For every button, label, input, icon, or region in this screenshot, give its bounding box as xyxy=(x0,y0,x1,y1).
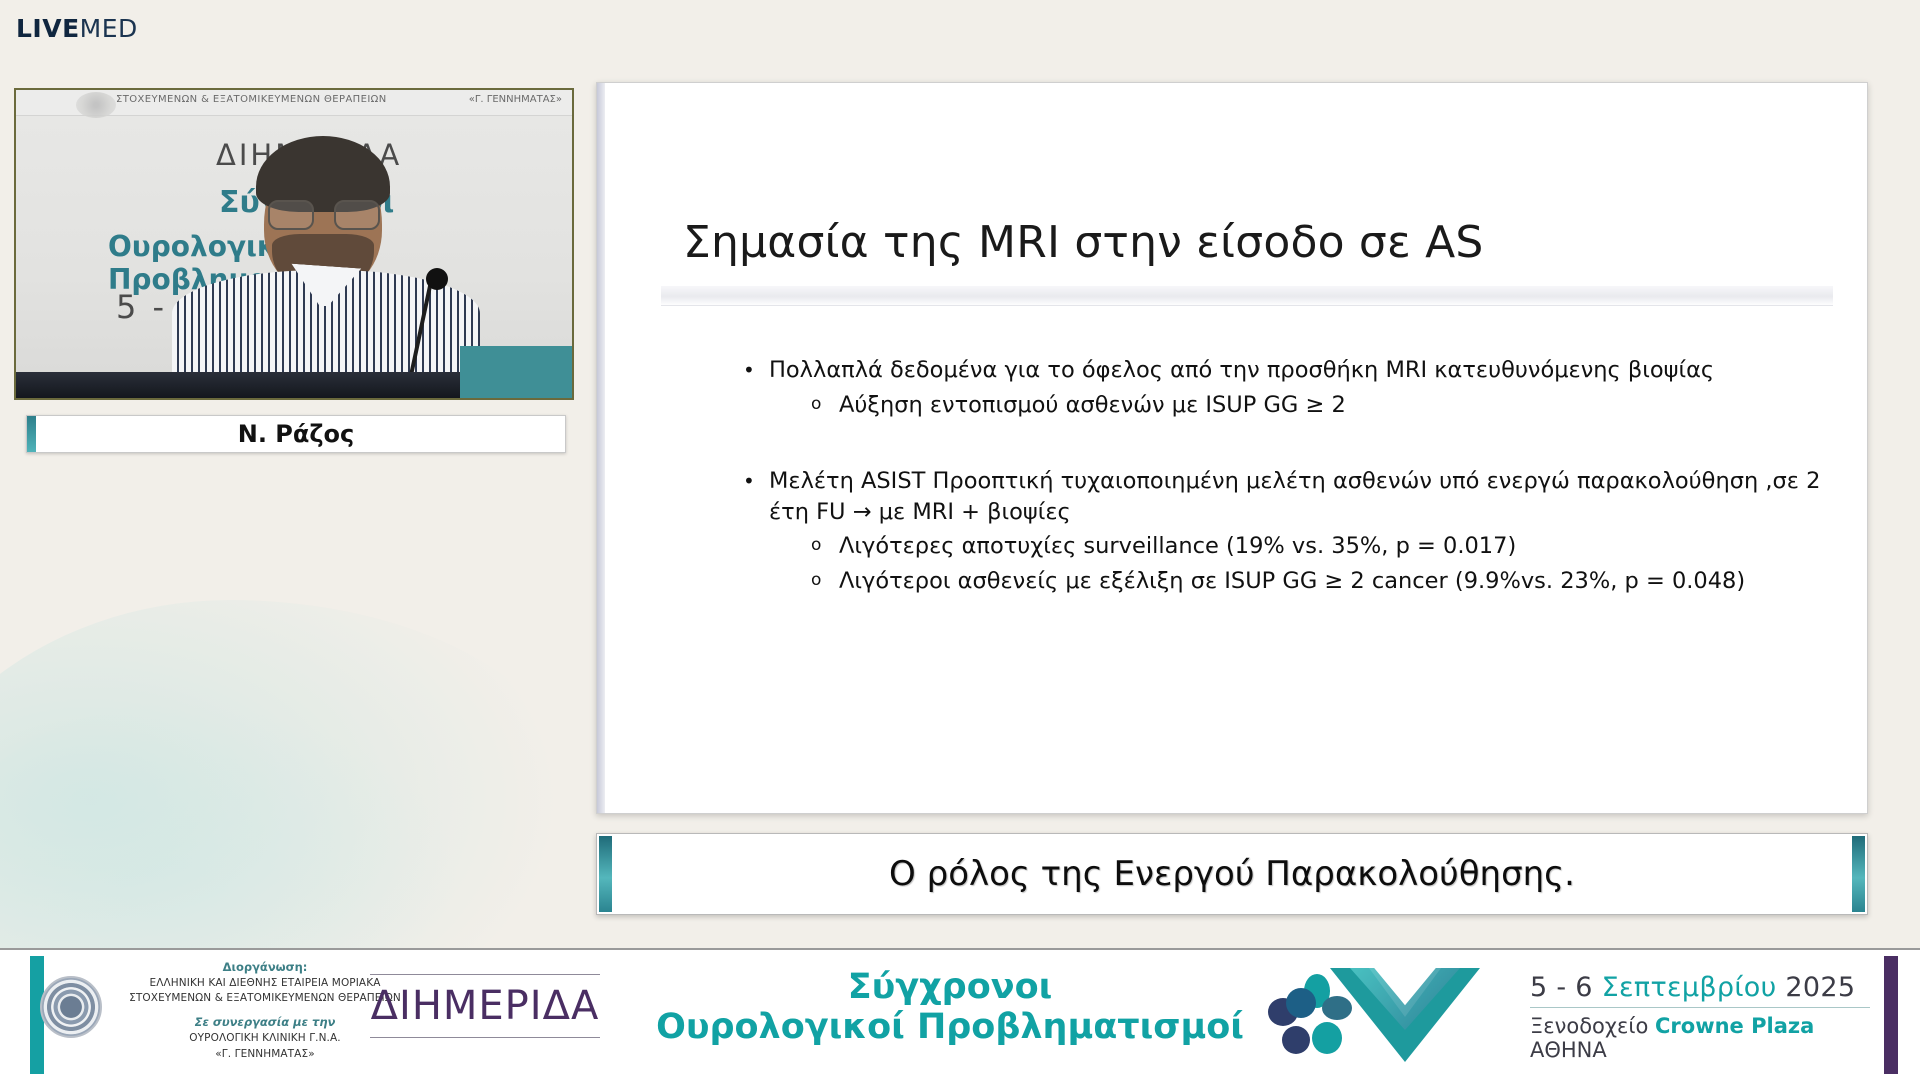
flower-petal xyxy=(1286,988,1316,1018)
event-type-block: ΔΙΗΜΕΡΙΔΑ xyxy=(360,968,610,1044)
sub-bullet-marker: o xyxy=(811,390,839,419)
venue-block: 5 - 6 Σεπτεμβρίου 2025 Ξενοδοχείο Crowne… xyxy=(1530,972,1870,1062)
sub-bullet-text: Λιγότεροι ασθενείς με εξέλιξη σε ISUP GG… xyxy=(839,566,1827,597)
presentation-slide[interactable]: Σημασία της MRI στην είσοδο σε AS • Πολλ… xyxy=(596,82,1868,814)
sub-bullet-item: o Λιγότεροι ασθενείς με εξέλιξη σε ISUP … xyxy=(811,566,1827,597)
speaker-figure xyxy=(186,138,466,398)
event-footer-banner: Διοργάνωση: ΕΛΛΗΝΙΚΗ ΚΑΙ ΔΙΕΘΝΗΣ ΕΤΑΙΡΕΙ… xyxy=(0,948,1920,1080)
livemed-logo[interactable]: LIVEMED xyxy=(16,16,138,41)
bullet-text: Πολλαπλά δεδομένα για το όφελος από την … xyxy=(769,355,1827,386)
footer-accent-bar-right xyxy=(1884,956,1898,1074)
congress-title-line-1: Σύγχρονοι xyxy=(630,968,1270,1007)
bullet-item: • Μελέτη ASIST Προοπτική τυχαιοποιημένη … xyxy=(743,466,1827,527)
event-date-month: Σεπτεμβρίου xyxy=(1602,972,1777,1003)
slide-bullet-list: • Πολλαπλά δεδομένα για το όφελος από τη… xyxy=(681,355,1827,597)
speaker-glasses xyxy=(268,200,380,226)
logo-text-med: MED xyxy=(80,14,138,43)
sub-bullet-item: o Λιγότερες αποτυχίες surveillance (19% … xyxy=(811,531,1827,562)
slide-title: Σημασία της MRI στην είσοδο σε AS xyxy=(683,217,1484,268)
venue-label: Ξενοδοχείο xyxy=(1530,1014,1655,1038)
video-frame: ΣΤΟΧΕΥΜΕΝΩΝ & ΕΞΑΤΟΜΙΚΕΥΜΕΝΩΝ ΘΕΡΑΠΕΙΩΝ … xyxy=(16,90,572,398)
sub-bullet-text: Αύξηση εντοπισμού ασθενών με ISUP GG ≥ 2 xyxy=(839,390,1827,421)
venue-name: Crowne Plaza xyxy=(1655,1014,1814,1038)
venue-line: Ξενοδοχείο Crowne Plaza ΑΘΗΝΑ xyxy=(1530,1014,1870,1062)
cooperation-line-2: «Γ. ΓΕΝΝΗΜΑΤΑΣ» xyxy=(110,1047,420,1062)
session-caption-text: Ο ρόλος της Ενεργού Παρακολούθησης. xyxy=(889,854,1575,894)
event-date-year: 2025 xyxy=(1777,972,1856,1003)
event-date: 5 - 6 Σεπτεμβρίου 2025 xyxy=(1530,972,1870,1003)
bullet-text: Μελέτη ASIST Προοπτική τυχαιοποιημένη με… xyxy=(769,466,1827,527)
congress-title-block: Σύγχρονοι Ουρολογικοί Προβληματισμοί xyxy=(630,968,1270,1048)
event-type-rule-bottom xyxy=(370,1037,600,1038)
venue-divider xyxy=(1530,1007,1870,1008)
slide-left-edge xyxy=(597,83,605,813)
event-type-text: ΔΙΗΜΕΡΙΔΑ xyxy=(360,981,610,1031)
venue-city: ΑΘΗΝΑ xyxy=(1530,1038,1607,1062)
backdrop-seal-icon xyxy=(76,92,116,118)
bullet-marker: • xyxy=(743,355,769,385)
sub-bullet-item: o Αύξηση εντοπισμού ασθενών με ISUP GG ≥… xyxy=(811,390,1827,421)
event-date-days: 5 - 6 xyxy=(1530,972,1602,1003)
bullet-item: • Πολλαπλά δεδομένα για το όφελος από τη… xyxy=(743,355,1827,386)
bullet-spacer xyxy=(681,420,1827,466)
congress-title-line-2: Ουρολογικοί Προβληματισμοί xyxy=(630,1007,1270,1048)
microphone-icon xyxy=(426,268,448,290)
session-caption-bar: Ο ρόλος της Ενεργού Παρακολούθησης. xyxy=(596,833,1868,915)
organization-seal-icon xyxy=(40,976,102,1038)
chevron-logo-icon xyxy=(1330,968,1500,1068)
backdrop-top-left-text: ΣΤΟΧΕΥΜΕΝΩΝ & ΕΞΑΤΟΜΙΚΕΥΜΕΝΩΝ ΘΕΡΑΠΕΙΩΝ xyxy=(116,94,387,105)
speaker-name-label: Ν. Ράζος xyxy=(238,420,355,448)
sub-bullet-marker: o xyxy=(811,531,839,560)
slide-title-divider xyxy=(661,286,1833,306)
bullet-marker: • xyxy=(743,466,769,496)
backdrop-top-right-text: «Γ. ΓΕΝΝΗΜΑΤΑΣ» xyxy=(469,94,562,105)
sub-bullet-marker: o xyxy=(811,566,839,595)
video-player[interactable]: ΣΤΟΧΕΥΜΕΝΩΝ & ΕΞΑΤΟΜΙΚΕΥΜΕΝΩΝ ΘΕΡΑΠΕΙΩΝ … xyxy=(14,88,574,400)
sub-bullet-text: Λιγότερες αποτυχίες surveillance (19% vs… xyxy=(839,531,1827,562)
podium-teal-panel xyxy=(460,346,572,398)
flower-petal xyxy=(1282,1026,1310,1054)
logo-text-live: LIVE xyxy=(16,14,80,43)
event-type-rule-top xyxy=(370,974,600,975)
speaker-name-plate: Ν. Ράζος xyxy=(26,415,566,453)
